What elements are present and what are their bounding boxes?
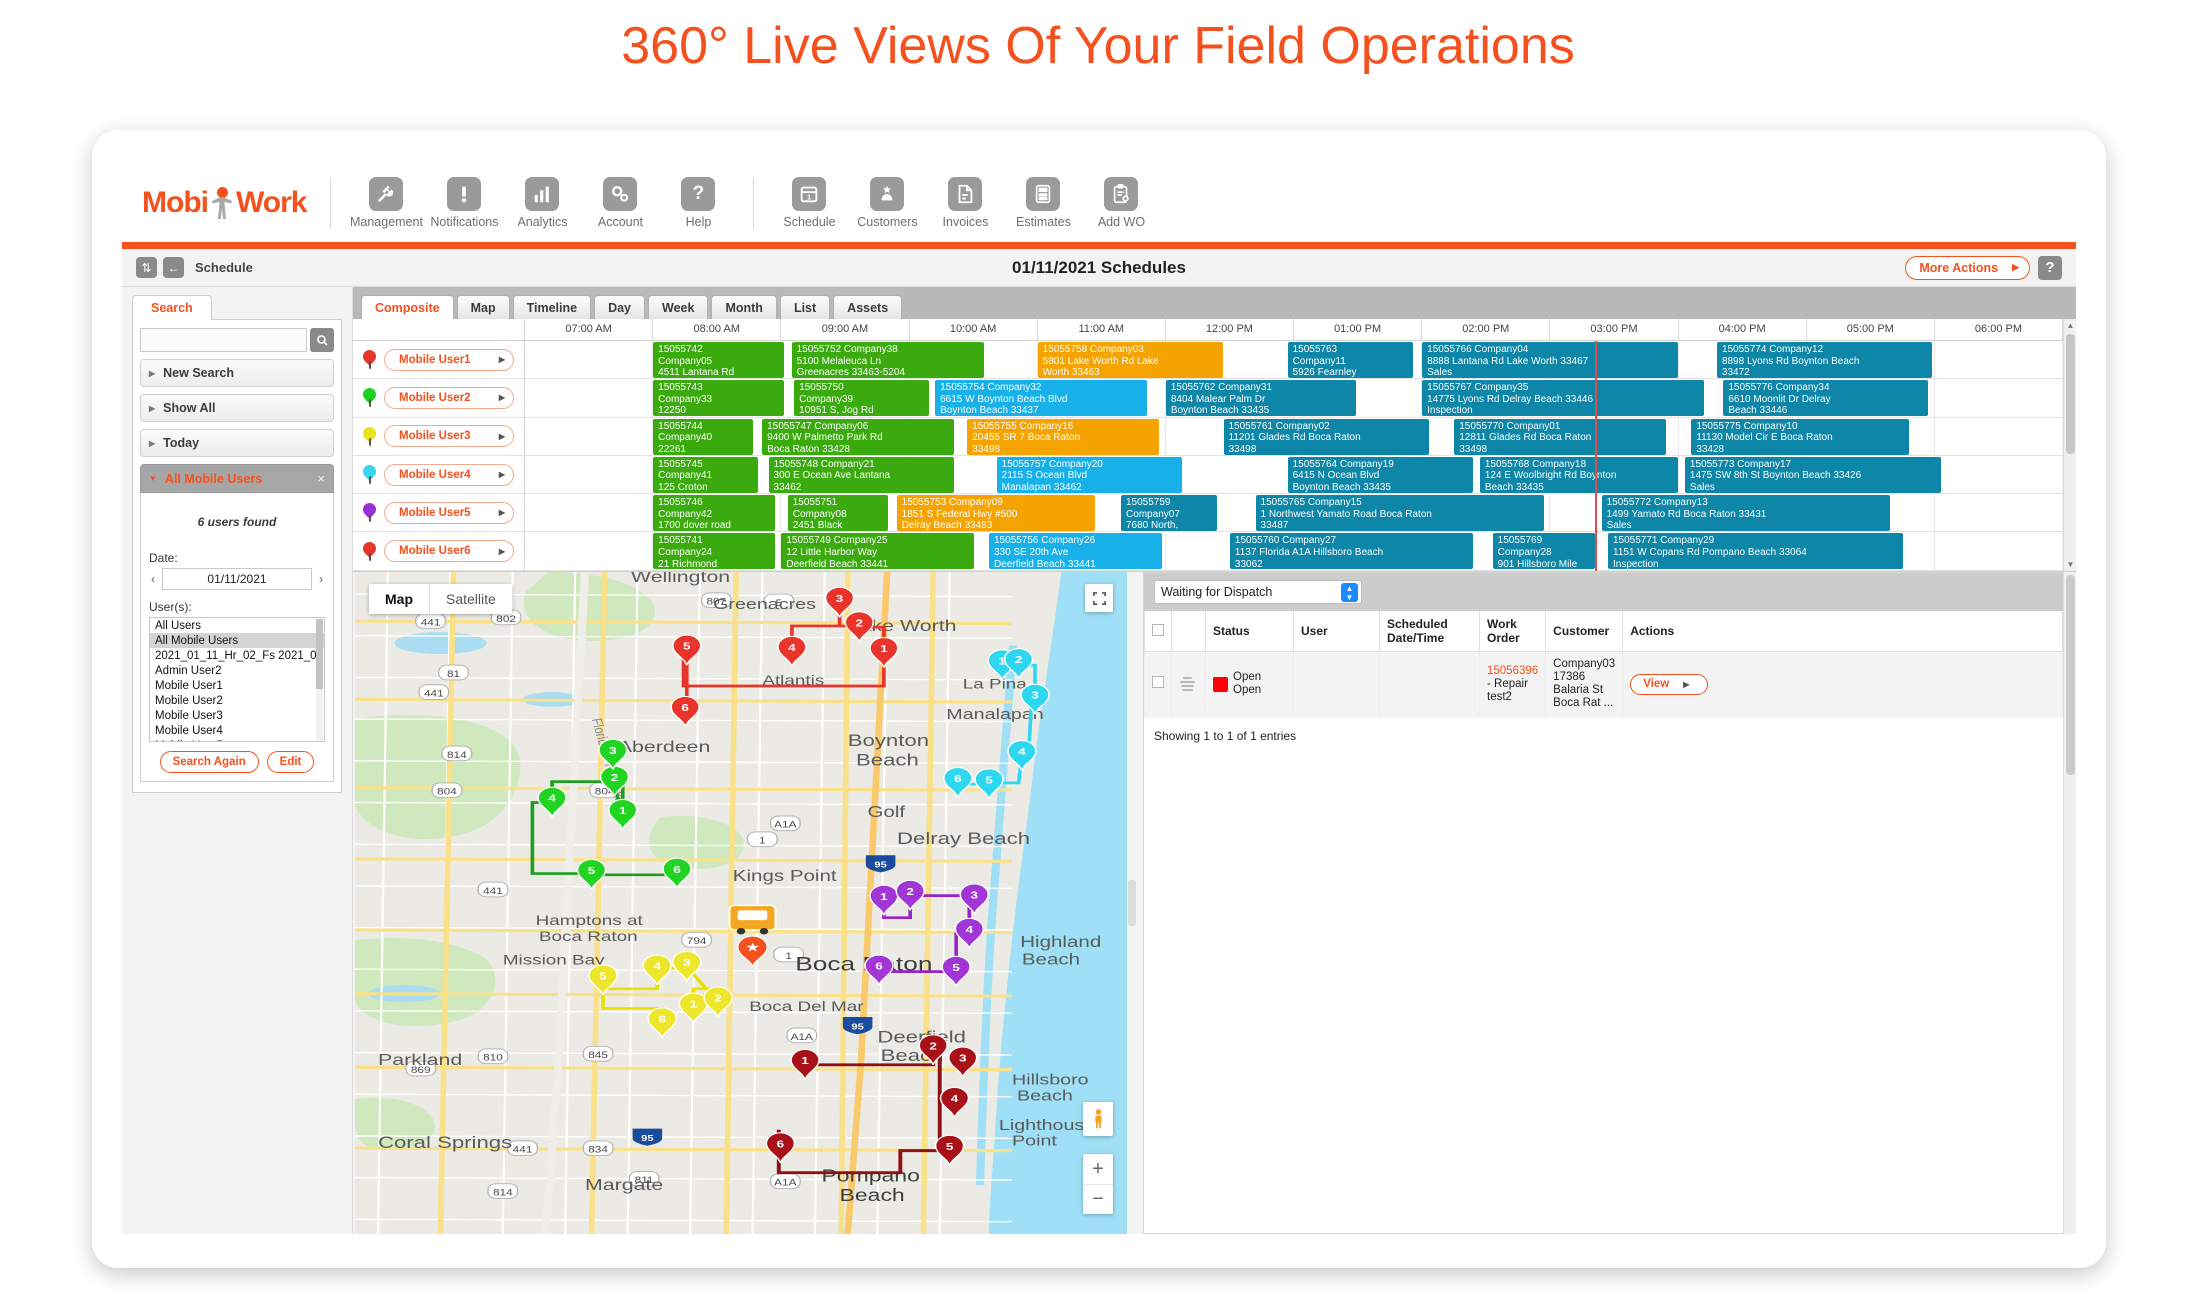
event-line-2: 300 E Ocean Ave Lantana: [774, 470, 950, 482]
user-option[interactable]: All Users: [150, 618, 324, 633]
event-line-1: 15055759: [1126, 497, 1212, 509]
map-panel[interactable]: 4418028075441814804804A1A144179418108458…: [355, 572, 1127, 1234]
event-line-1: 15055762 Company31: [1171, 382, 1351, 394]
marker-number: 5: [683, 640, 691, 652]
next-date-icon[interactable]: ›: [317, 572, 325, 586]
event-line-2: 12811 Glades Rd Boca Raton: [1459, 432, 1660, 444]
event-line-3: Boca Raton 33428: [767, 444, 949, 455]
map-pin-icon: [363, 350, 376, 369]
schedule-event[interactable]: 15055774 Company128898 Lyons Rd Boynton …: [1717, 342, 1932, 378]
schedule-event[interactable]: 15055769Company28901 Hillsboro Mile: [1493, 533, 1596, 569]
schedule-event[interactable]: 15055762 Company318404 Malear Palm DrBoy…: [1166, 380, 1356, 416]
search-again-button[interactable]: Search Again: [160, 751, 259, 773]
event-line-2: 20455 SR 7 Boca Raton: [972, 432, 1154, 444]
search-row: [140, 328, 334, 352]
tab-search[interactable]: Search: [132, 295, 212, 320]
schedule-event[interactable]: 15055749 Company2512 Little Harbor WayDe…: [781, 533, 973, 569]
event-line-1: 15055770 Company01: [1459, 421, 1660, 433]
time-slot-7: 02:00 PM: [1422, 319, 1550, 340]
breadcrumb-label: Schedule: [195, 260, 253, 275]
exclamation-icon: [447, 177, 481, 211]
marker-number: 1: [801, 1055, 809, 1067]
svg-text:A1A: A1A: [791, 1033, 813, 1042]
schedule-time-header: 07:00 AM08:00 AM09:00 AM10:00 AM11:00 AM…: [353, 319, 2063, 341]
dispatch-filter-select[interactable]: Waiting for Dispatch ▲▼: [1154, 580, 1362, 604]
event-line-2: 1151 W Copans Rd Pompano Beach 33064: [1613, 547, 1898, 559]
panel-resizer[interactable]: [1127, 572, 1137, 1234]
event-line-1: 15055761 Company02: [1229, 421, 1424, 433]
user-option[interactable]: Mobile User1: [150, 678, 324, 693]
user-option[interactable]: Admin User2: [150, 663, 324, 678]
time-slot-8: 03:00 PM: [1550, 319, 1678, 340]
event-line-1: 15055746: [658, 497, 770, 509]
person-star-icon: [870, 177, 904, 211]
app-logo[interactable]: Mobi Work: [142, 186, 306, 220]
nav-item-schedule[interactable]: 1 Schedule: [770, 177, 848, 229]
tab-list[interactable]: List: [780, 295, 830, 319]
logo-person-icon: [209, 187, 235, 219]
event-line-3: 10951 S, Jog Rd: [799, 405, 924, 416]
accordion-new-search[interactable]: ▶ New Search: [140, 359, 334, 387]
event-line-3: Delray Beach 33483: [902, 520, 1091, 531]
work-order-link[interactable]: 15056396: [1487, 665, 1538, 677]
nav-item-management[interactable]: Management: [347, 177, 425, 229]
select-all-checkbox[interactable]: [1152, 624, 1164, 636]
tab-month[interactable]: Month: [711, 295, 776, 319]
fullscreen-icon[interactable]: [1085, 584, 1113, 612]
event-line-2: Company39: [799, 394, 924, 406]
map-label: Greenacres: [713, 595, 816, 612]
accordion-all-mobile-users[interactable]: ▼ All Mobile Users ×: [140, 464, 334, 493]
nav-item-estimates[interactable]: Estimates: [1004, 177, 1082, 229]
scroll-up-icon[interactable]: ▲: [2064, 319, 2076, 332]
schedule-event[interactable]: 15055765 Company151 Northwest Yamato Roa…: [1256, 495, 1544, 531]
map-pin-icon: [363, 388, 376, 407]
user-row-button[interactable]: Mobile User5▶: [384, 502, 514, 524]
svg-text:814: 814: [493, 1189, 513, 1198]
event-line-2: 330 SE 20th Ave: [994, 547, 1157, 559]
map-label: Margate: [585, 1175, 663, 1193]
event-line-3: 33462: [774, 482, 950, 493]
event-line-1: 15055743: [658, 382, 779, 394]
user-row-button[interactable]: Mobile User3▶: [384, 425, 514, 447]
map-label: Beach: [1022, 951, 1080, 968]
time-header-gutter: [353, 319, 525, 340]
nav-label-notifications: Notifications: [430, 215, 498, 229]
event-line-1: 15055773 Company17: [1690, 459, 1936, 471]
schedule-row-lane: 15055741Company2421 Richmond15055749 Com…: [525, 532, 2063, 569]
schedule-event[interactable]: 15055748 Company21300 E Ocean Ave Lantan…: [769, 457, 955, 493]
dispatch-filter-value: Waiting for Dispatch: [1161, 585, 1272, 599]
marker-number: 6: [875, 960, 883, 972]
nav-group-secondary: 1 Schedule Customers Invoices: [770, 177, 1160, 229]
col-drag: [1172, 611, 1206, 652]
event-line-2: Company28: [1498, 547, 1591, 559]
event-line-3: 33498: [1229, 444, 1424, 455]
gears-icon: [603, 177, 637, 211]
map-label: Beach: [1017, 1087, 1073, 1104]
schedule-rows: Mobile User1▶15055742Company054511 Lanta…: [353, 341, 2063, 571]
event-line-2: 11201 Glades Rd Boca Raton: [1229, 432, 1424, 444]
event-line-2: 1137 Florida A1A Hillsboro Beach: [1235, 547, 1469, 559]
close-icon[interactable]: ×: [317, 471, 325, 486]
event-line-3: 22261: [658, 444, 748, 455]
event-line-3: Sales: [1690, 482, 1936, 493]
time-slot-1: 08:00 AM: [653, 319, 781, 340]
map-type-map[interactable]: Map: [369, 584, 429, 614]
event-line-3: 21 Richmond: [658, 559, 770, 570]
edit-button[interactable]: Edit: [267, 751, 315, 773]
svg-text:★: ★: [745, 941, 760, 955]
map-label: Boynton: [848, 732, 929, 751]
chevron-right-icon: ▶: [499, 470, 505, 479]
schedule-row: Mobile User5▶15055746Company421700 dover…: [353, 494, 2063, 532]
svg-text:81: 81: [447, 670, 460, 679]
table-row[interactable]: OpenOpen 15056396 - Repair test2 Company…: [1145, 652, 2063, 717]
event-line-3: 5926 Fearnley: [1293, 367, 1409, 378]
view-button[interactable]: View ▶: [1630, 674, 1708, 695]
street-view-pegman-icon[interactable]: [1083, 1102, 1113, 1136]
calculator-icon: [1026, 177, 1060, 211]
clipboard-plus-icon: [1104, 177, 1138, 211]
collapse-panel-icon[interactable]: ←: [163, 257, 184, 278]
marker-number: 1: [880, 643, 888, 655]
view-tabs: Composite Map Timeline Day Week Month Li…: [353, 287, 2076, 319]
time-slot-11: 06:00 PM: [1935, 319, 2063, 340]
help-button[interactable]: ?: [2038, 256, 2062, 280]
event-line-2: 2115 S Ocean Blvd: [1002, 470, 1178, 482]
event-line-2: Company42: [658, 509, 770, 521]
nav-label-add-wo: Add WO: [1098, 215, 1145, 229]
sort-toggle-icon[interactable]: ⇅: [136, 257, 157, 278]
cell-drag[interactable]: [1172, 652, 1206, 717]
cell-status: OpenOpen: [1206, 652, 1294, 717]
map-label: Hamptons at: [536, 912, 643, 928]
schedule-event[interactable]: 15055745Company41125 Croton: [653, 457, 758, 493]
schedule-event[interactable]: 15055746Company421700 dover road: [653, 495, 775, 531]
nav-item-help[interactable]: ? Help: [659, 177, 737, 229]
event-line-1: 15055760 Company27: [1235, 535, 1469, 547]
event-line-2: 1851 S Federal Hwy #500: [902, 509, 1091, 521]
date-picker: ‹ 01/11/2021 ›: [149, 568, 325, 590]
schedule-event[interactable]: 15055756 Company26330 SE 20th AveDeerfie…: [989, 533, 1162, 569]
map-type-satellite[interactable]: Satellite: [429, 584, 512, 614]
user-option-selected[interactable]: All Mobile Users: [150, 633, 324, 648]
time-slot-3: 10:00 AM: [910, 319, 1038, 340]
user-option[interactable]: Mobile User3: [150, 708, 324, 723]
event-line-2: 124 E Woolbright Rd Boynton: [1485, 470, 1674, 482]
marker-number: 2: [856, 617, 864, 629]
map-zoom-controls: + −: [1083, 1154, 1113, 1214]
map-type-buttons: Map Satellite: [369, 584, 512, 614]
search-panel: ▶ New Search ▶ Show All ▶ Today ▼ All Mo…: [132, 319, 342, 793]
user-option[interactable]: Mobile User5: [150, 738, 324, 742]
svg-text:1: 1: [759, 837, 766, 846]
schedule-event[interactable]: 15055741Company2421 Richmond: [653, 533, 775, 569]
more-actions-button[interactable]: More Actions ▶: [1905, 256, 2030, 280]
date-value[interactable]: 01/11/2021: [162, 568, 312, 590]
tab-map[interactable]: Map: [457, 295, 510, 319]
tab-assets[interactable]: Assets: [833, 295, 902, 319]
schedule-row: Mobile User2▶15055743Company331225015055…: [353, 379, 2063, 417]
nav-group-primary: Management Notifications Analytics Accou…: [347, 177, 737, 229]
svg-text:441: 441: [513, 1146, 533, 1155]
user-option[interactable]: Mobile User4: [150, 723, 324, 738]
schedule-event[interactable]: 15055753 Company091851 S Federal Hwy #50…: [897, 495, 1096, 531]
accordion-label-today: Today: [163, 436, 199, 450]
dispatch-table: Status User Scheduled Date/Time Work Ord…: [1144, 611, 2063, 717]
schedule-scrollbar[interactable]: ▲ ▼: [2063, 319, 2076, 571]
event-line-3: 901 Hillsboro Mile: [1498, 559, 1591, 570]
accordion-label-all-mobile-users: All Mobile Users: [165, 472, 262, 486]
schedule-event[interactable]: 15055764 Company196415 N Ocean BlvdBoynt…: [1288, 457, 1474, 493]
schedule-event[interactable]: 15055775 Company1011130 Model Cir E Boca…: [1691, 419, 1909, 455]
scrollbar-thumb[interactable]: [2066, 334, 2075, 454]
map-label: Wellington: [631, 572, 730, 585]
schedule-event[interactable]: 15055773 Company171475 SW 8th St Boynton…: [1685, 457, 1941, 493]
nav-item-notifications[interactable]: Notifications: [425, 177, 503, 229]
nav-label-schedule: Schedule: [783, 215, 835, 229]
event-line-1: 15055775 Company10: [1696, 421, 1904, 433]
schedule-event[interactable]: 15055761 Company0211201 Glades Rd Boca R…: [1224, 419, 1429, 455]
nav-item-invoices[interactable]: Invoices: [926, 177, 1004, 229]
schedule-event[interactable]: 15055771 Company291151 W Copans Rd Pompa…: [1608, 533, 1903, 569]
event-line-1: 15055767 Company35: [1427, 382, 1699, 394]
zoom-out-button[interactable]: −: [1083, 1184, 1113, 1214]
nav-label-customers: Customers: [857, 215, 917, 229]
chevron-right-icon: ▶: [2012, 262, 2019, 273]
event-line-3: Deerfield Beach 33441: [786, 559, 968, 570]
user-row-button[interactable]: Mobile User1▶: [384, 349, 514, 371]
accordion-label-new-search: New Search: [163, 366, 234, 380]
event-line-1: 15055774 Company12: [1722, 344, 1927, 356]
user-row-label: Mobile User5: [399, 507, 471, 519]
schedule-event[interactable]: 15055770 Company0112811 Glades Rd Boca R…: [1454, 419, 1665, 455]
col-customer[interactable]: Customer: [1546, 611, 1623, 652]
map-label: Hillsboro: [1012, 1071, 1089, 1088]
tab-composite[interactable]: Composite: [361, 295, 454, 319]
schedule-row-gutter: Mobile User2▶: [353, 379, 525, 416]
event-line-2: 9400 W Palmetto Park Rd: [767, 432, 949, 444]
event-line-2: 14775 Lyons Rd Delray Beach 33446: [1427, 394, 1699, 406]
col-status[interactable]: Status: [1206, 611, 1294, 652]
schedule-event[interactable]: 15055767 Company3514775 Lyons Rd Delray …: [1422, 380, 1704, 416]
col-select-all[interactable]: [1145, 611, 1172, 652]
cell-scheduled: [1380, 652, 1480, 717]
map-label: Mission Bay: [503, 952, 606, 968]
schedule-row: Mobile User4▶15055745Company41125 Croton…: [353, 456, 2063, 494]
nav-item-analytics[interactable]: Analytics: [503, 177, 581, 229]
event-line-3: Boynton Beach 33435: [1293, 482, 1469, 493]
schedule-event[interactable]: 15055754 Company326615 W Boynton Beach B…: [935, 380, 1146, 416]
scroll-down-icon[interactable]: ▼: [2064, 558, 2076, 571]
event-line-1: 15055768 Company18: [1485, 459, 1674, 471]
nav-divider-2: [753, 178, 754, 228]
event-line-1: 15055765 Company15: [1261, 497, 1539, 509]
event-line-3: 33498: [1459, 444, 1660, 455]
marker-number: 6: [673, 864, 681, 876]
map-label: Pompano: [821, 1167, 919, 1186]
event-line-2: Company40: [658, 432, 748, 444]
schedule-event[interactable]: 15055751Company082451 Black: [788, 495, 888, 531]
svg-text:834: 834: [588, 1146, 608, 1155]
scrollbar-thumb[interactable]: [2066, 575, 2075, 775]
user-list-scrollbar[interactable]: [316, 619, 323, 740]
cell-select[interactable]: [1145, 652, 1172, 717]
nav-item-account[interactable]: Account: [581, 177, 659, 229]
prev-date-icon[interactable]: ‹: [149, 572, 157, 586]
col-actions: Actions: [1623, 611, 2063, 652]
user-multiselect[interactable]: All Users All Mobile Users 2021_01_11_Hr…: [149, 617, 325, 742]
search-icon[interactable]: [310, 328, 334, 352]
map-label: Highland: [1020, 934, 1101, 951]
schedule-event[interactable]: 15055757 Company202115 S Ocean BlvdManal…: [997, 457, 1183, 493]
marker-number: 5: [599, 970, 607, 982]
truck-icon[interactable]: [730, 905, 776, 934]
tab-week[interactable]: Week: [648, 295, 708, 319]
nav-label-invoices: Invoices: [943, 215, 989, 229]
schedule-event[interactable]: 15055742Company054511 Lantana Rd: [653, 342, 784, 378]
marker-number: 5: [588, 865, 596, 877]
event-line-3: Sales: [1427, 367, 1673, 378]
col-work-order[interactable]: Work Order: [1480, 611, 1546, 652]
event-line-3: 2451 Black: [793, 520, 883, 531]
col-scheduled[interactable]: Scheduled Date/Time: [1380, 611, 1480, 652]
user-row-button[interactable]: Mobile User4▶: [384, 464, 514, 486]
dispatch-scrollbar[interactable]: [2063, 572, 2076, 1234]
schedule-event[interactable]: 15055768 Company18124 E Woolbright Rd Bo…: [1480, 457, 1679, 493]
schedule-event[interactable]: 15055776 Company346610 Moonlit Dr Delray…: [1723, 380, 1928, 416]
row-checkbox[interactable]: [1152, 676, 1164, 688]
marker-number: 3: [836, 593, 844, 605]
svg-text:441: 441: [421, 619, 441, 628]
col-user[interactable]: User: [1294, 611, 1380, 652]
marker-number: 4: [653, 960, 661, 972]
event-line-3: Inspection: [1427, 405, 1699, 416]
schedule-event[interactable]: 15055772 Company131499 Yamato Rd Boca Ra…: [1602, 495, 1890, 531]
zoom-in-button[interactable]: +: [1083, 1154, 1113, 1184]
users-label: User(s):: [149, 600, 325, 614]
app-body: Search ▶ New Search ▶ Show All ▶: [122, 287, 2076, 1234]
nav-item-add-wo[interactable]: Add WO: [1082, 177, 1160, 229]
page-title: 01/11/2021 Schedules: [122, 258, 2076, 278]
user-row-label: Mobile User4: [399, 469, 471, 481]
nav-item-customers[interactable]: Customers: [848, 177, 926, 229]
event-line-2: 1475 SW 8th St Boynton Beach 33426: [1690, 470, 1936, 482]
schedule-event[interactable]: 15055752 Company385100 Melaleuca LnGreen…: [792, 342, 984, 378]
schedule-row: Mobile User3▶15055744Company402226115055…: [353, 418, 2063, 456]
tab-timeline[interactable]: Timeline: [513, 295, 591, 319]
marker-number: 6: [681, 702, 689, 714]
event-line-3: 125 Croton: [658, 482, 753, 493]
schedule-grid: 07:00 AM08:00 AM09:00 AM10:00 AM11:00 AM…: [353, 319, 2063, 571]
schedule-event[interactable]: 15055760 Company271137 Florida A1A Hills…: [1230, 533, 1474, 569]
event-line-1: 15055772 Company13: [1607, 497, 1885, 509]
user-row-button[interactable]: Mobile User2▶: [384, 387, 514, 409]
map-label: Lighthouse: [999, 1116, 1095, 1133]
schedule-event[interactable]: 15055755 Company1620455 SR 7 Boca Raton3…: [967, 419, 1159, 455]
event-line-2: 8888 Lantana Rd Lake Worth 33467: [1427, 356, 1673, 368]
schedule-event[interactable]: 15055747 Company069400 W Palmetto Park R…: [762, 419, 954, 455]
schedule-row-gutter: Mobile User6▶: [353, 532, 525, 569]
marker-number: 4: [788, 642, 796, 654]
event-line-2: 6415 N Ocean Blvd: [1293, 470, 1469, 482]
event-line-2: 5100 Melaleuca Ln: [797, 356, 979, 368]
event-line-2: 1499 Yamato Rd Boca Raton 33431: [1607, 509, 1885, 521]
banner-title: 360° Live Views Of Your Field Operations: [621, 16, 1575, 76]
accordion-show-all[interactable]: ▶ Show All: [140, 394, 334, 422]
drag-handle-icon[interactable]: [1179, 677, 1196, 690]
schedule-event[interactable]: 15055744Company4022261: [653, 419, 753, 455]
chevron-right-icon: ▶: [499, 393, 505, 402]
event-line-2: Company11: [1293, 356, 1409, 368]
status-badge: [1213, 677, 1228, 692]
event-line-1: 15055754 Company32: [940, 382, 1141, 394]
search-input[interactable]: [140, 328, 307, 352]
event-line-1: 15055741: [658, 535, 770, 547]
chevron-right-icon: ▶: [149, 404, 155, 413]
event-line-2: 6610 Moonlit Dr Delray: [1728, 394, 1923, 406]
map-pin-icon: [363, 427, 376, 446]
marker-number: 1: [619, 805, 627, 817]
nav-divider-1: [330, 178, 331, 228]
logo-text-mobi: Mobi: [142, 186, 208, 220]
map-pin-icon: [363, 465, 376, 484]
marker-number: 6: [954, 773, 962, 785]
nav-label-estimates: Estimates: [1016, 215, 1071, 229]
schedule-event[interactable]: 15055766 Company048888 Lantana Rd Lake W…: [1422, 342, 1678, 378]
device-frame: Mobi Work Management Notifications: [92, 130, 2106, 1268]
cell-actions: View ▶: [1623, 652, 2063, 717]
event-line-1: 15055764 Company19: [1293, 459, 1469, 471]
brand-accent-rule: [122, 242, 2076, 249]
user-option[interactable]: 2021_01_11_Hr_02_Fs 2021_01: [150, 648, 324, 663]
marker-number: 3: [1031, 689, 1039, 701]
event-line-2: 12 Little Harbor Way: [786, 547, 968, 559]
status-line-2: Open: [1233, 684, 1261, 696]
schedule-event[interactable]: 15055750Company3910951 S, Jog Rd: [794, 380, 929, 416]
user-option[interactable]: Mobile User2: [150, 693, 324, 708]
schedule-row-gutter: Mobile User1▶: [353, 341, 525, 378]
tab-day[interactable]: Day: [594, 295, 645, 319]
schedule-event[interactable]: 15055743Company3312250: [653, 380, 784, 416]
title-bar-actions: More Actions ▶ ?: [1905, 256, 2062, 280]
select-stepper-icon[interactable]: ▲▼: [1341, 583, 1358, 602]
accordion-today[interactable]: ▶ Today: [140, 429, 334, 457]
event-line-3: Beach 33435: [1485, 482, 1674, 493]
main-column: Composite Map Timeline Day Week Month Li…: [353, 287, 2076, 1234]
schedule-event[interactable]: 15055759Company077680 North,: [1121, 495, 1217, 531]
marker-number: 3: [959, 1052, 967, 1064]
bar-chart-icon: [525, 177, 559, 211]
event-line-3: 33062: [1235, 559, 1469, 570]
event-line-3: Boynton Beach 33437: [940, 405, 1141, 416]
event-line-2: 8404 Malear Palm Dr: [1171, 394, 1351, 406]
nav-label-management: Management: [350, 215, 423, 229]
schedule-event[interactable]: 15055758 Company035801 Lake Worth Rd Lak…: [1038, 342, 1224, 378]
user-row-button[interactable]: Mobile User6▶: [384, 540, 514, 562]
event-line-1: 15055753 Company09: [902, 497, 1091, 509]
application-window: Mobi Work Management Notifications: [122, 164, 2076, 1234]
event-line-1: 15055749 Company25: [786, 535, 968, 547]
all-mobile-users-body: 6 users found Date: ‹ 01/11/2021 › User(…: [140, 493, 334, 782]
dispatch-panel: Waiting for Dispatch ▲▼ Status User Sche…: [1143, 572, 2063, 1234]
schedule-event[interactable]: 15055763Company115926 Fearnley: [1288, 342, 1414, 378]
event-line-1: 15055745: [658, 459, 753, 471]
question-mark-icon: ?: [681, 177, 715, 211]
lower-section: 4418028075441814804804A1A144179418108458…: [353, 572, 2076, 1234]
marker-number: 1: [880, 891, 888, 903]
